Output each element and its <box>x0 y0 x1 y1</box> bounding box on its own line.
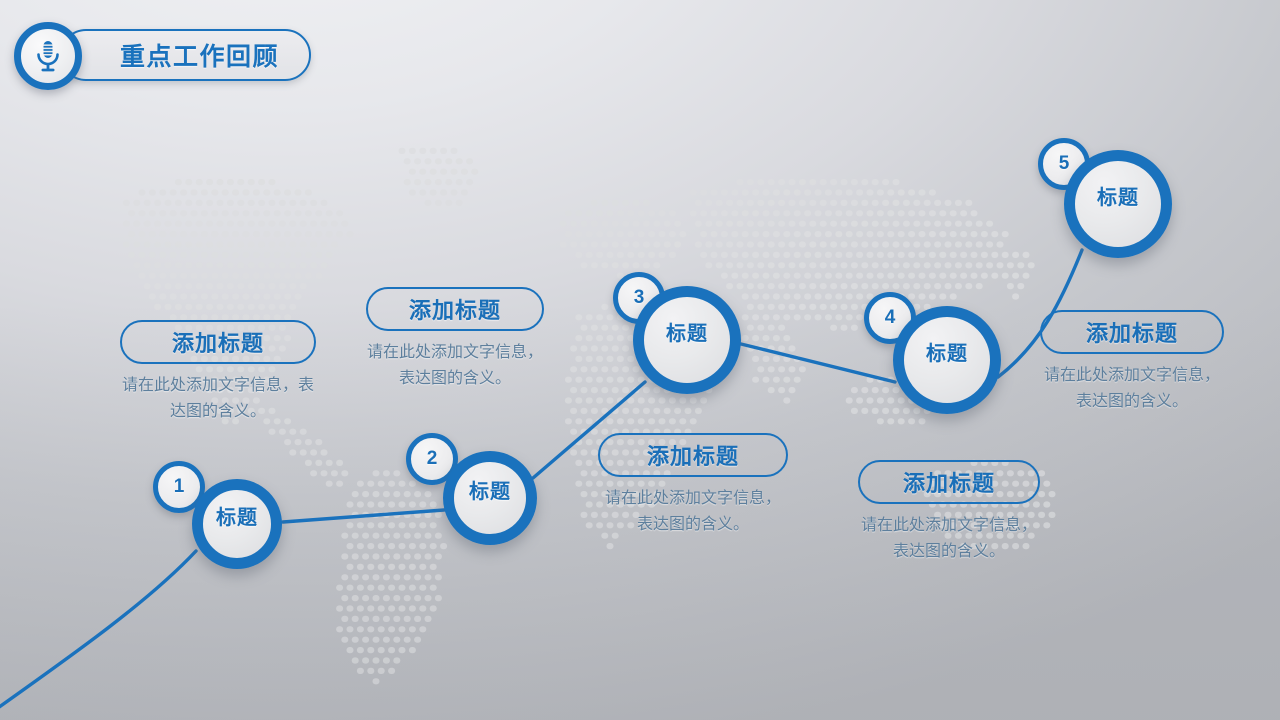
node-label-4: 标题 <box>926 337 968 366</box>
node-circle-3[interactable]: 标题 <box>633 286 741 394</box>
node-number-3: 3 <box>634 287 645 309</box>
caption-title-pill-1[interactable]: 添加标题 <box>120 320 316 364</box>
caption-body-3: 请在此处添加文字信息，表达图的含义。 <box>598 486 788 538</box>
node-number-4: 4 <box>885 307 896 329</box>
caption-block-3: 添加标题请在此处添加文字信息，表达图的含义。 <box>598 433 788 538</box>
caption-block-5: 添加标题请在此处添加文字信息，表达图的含义。 <box>1040 310 1224 415</box>
caption-title-2: 添加标题 <box>409 293 501 325</box>
node-label-2: 标题 <box>469 475 511 504</box>
caption-title-pill-3[interactable]: 添加标题 <box>598 433 788 477</box>
header-title-pill: 重点工作回顾 <box>60 29 311 81</box>
node-1-to-node-2 <box>283 510 444 522</box>
node-circle-4[interactable]: 标题 <box>893 306 1001 414</box>
caption-title-3: 添加标题 <box>647 439 739 471</box>
node-label-5: 标题 <box>1097 181 1139 210</box>
node-number-5: 5 <box>1059 153 1070 175</box>
node-label-1: 标题 <box>216 501 258 530</box>
page-title: 重点工作回顾 <box>120 37 279 73</box>
slide-canvas: 重点工作回顾 1标题2标题3标题4标题5标题 添加标题请在此处添加文字信息，表达… <box>0 0 1280 720</box>
caption-title-1: 添加标题 <box>172 326 264 358</box>
node-circle-1[interactable]: 标题 <box>192 479 282 569</box>
caption-block-4: 添加标题请在此处添加文字信息，表达图的含义。 <box>858 460 1040 565</box>
caption-title-pill-2[interactable]: 添加标题 <box>366 287 544 331</box>
tail-to-node-1 <box>0 551 196 720</box>
node-number-1: 1 <box>174 476 185 498</box>
caption-title-pill-4[interactable]: 添加标题 <box>858 460 1040 504</box>
node-circle-2[interactable]: 标题 <box>443 451 537 545</box>
caption-title-4: 添加标题 <box>903 466 995 498</box>
caption-body-2: 请在此处添加文字信息，表达图的含义。 <box>366 340 544 392</box>
node-3-to-node-4 <box>741 344 895 382</box>
caption-title-5: 添加标题 <box>1086 316 1178 348</box>
node-circle-5[interactable]: 标题 <box>1064 150 1172 258</box>
microphone-icon <box>14 22 82 90</box>
caption-body-1: 请在此处添加文字信息，表达图的含义。 <box>120 373 316 425</box>
caption-body-5: 请在此处添加文字信息，表达图的含义。 <box>1040 363 1224 415</box>
caption-block-2: 添加标题请在此处添加文字信息，表达图的含义。 <box>366 287 544 392</box>
caption-body-4: 请在此处添加文字信息，表达图的含义。 <box>858 513 1040 565</box>
node-label-3: 标题 <box>666 317 708 346</box>
node-number-2: 2 <box>427 448 438 470</box>
caption-block-1: 添加标题请在此处添加文字信息，表达图的含义。 <box>120 320 316 425</box>
caption-title-pill-5[interactable]: 添加标题 <box>1040 310 1224 354</box>
